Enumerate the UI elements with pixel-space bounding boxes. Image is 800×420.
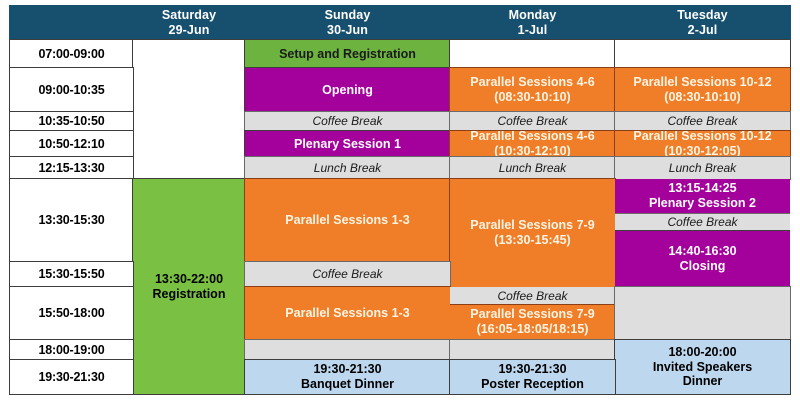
- column-header-tuesday: Tuesday 2-Jul: [614, 5, 791, 41]
- saturday-registration-time: 13:30-22:00: [155, 272, 223, 287]
- time-label-1050-1210: 10:50-12:10: [9, 130, 134, 158]
- tuesday-coffee-break-morning: Coffee Break: [614, 111, 791, 132]
- sunday-date: 30-Jun: [327, 23, 368, 38]
- monday-parallel-4-6-morning: Parallel Sessions 4-6 (08:30-10:10): [449, 67, 616, 113]
- monday-parallel-7-9-late-time: (16:05-18:05/18:15): [477, 322, 589, 337]
- saturday-registration: 13:30-22:00 Registration: [132, 178, 246, 395]
- monday-date: 1-Jul: [518, 23, 548, 38]
- tuesday-parallel-10-12-morning: Parallel Sessions 10-12 (08:30-10:10): [614, 67, 791, 113]
- tuesday-plenary-session-2-label: Plenary Session 2: [649, 196, 756, 211]
- tuesday-early-empty: [614, 39, 791, 69]
- tuesday-invited-dinner-label-1: Invited Speakers: [653, 360, 752, 375]
- monday-parallel-4-6-morning-time: (08:30-10:10): [494, 90, 570, 105]
- tuesday-afternoon-stack: 13:15-14:25 Plenary Session 2 Coffee Bre…: [615, 179, 790, 287]
- tuesday-invited-dinner-time: 18:00-20:00: [668, 345, 736, 360]
- time-label-1800-1900: 18:00-19:00: [9, 339, 134, 361]
- column-header-saturday: Saturday 29-Jun: [132, 5, 246, 41]
- monday-parallel-7-9-afternoon: Parallel Sessions 7-9 (13:30-15:45): [449, 178, 616, 288]
- tuesday-plenary-session-2-time: 13:15-14:25: [668, 181, 736, 196]
- monday-coffee-break-morning: Coffee Break: [449, 111, 616, 132]
- sunday-day: Sunday: [325, 8, 371, 23]
- saturday-date: 29-Jun: [169, 23, 210, 38]
- time-label-1530-1550: 15:30-15:50: [9, 261, 134, 288]
- tuesday-closing: 14:40-16:30 Closing: [615, 230, 790, 287]
- monday-parallel-7-9-late-title: Parallel Sessions 7-9: [470, 307, 594, 322]
- conference-schedule: Saturday 29-Jun Sunday 30-Jun Monday 1-J…: [0, 0, 800, 420]
- tuesday-parallel-10-12-morning-time: (08:30-10:10): [664, 90, 740, 105]
- time-label-0900-1035: 09:00-10:35: [9, 67, 134, 113]
- tuesday-invited-speakers-dinner: 18:00-20:00 Invited Speakers Dinner: [614, 339, 791, 395]
- header-corner: [9, 5, 134, 41]
- monday-poster-label: Poster Reception: [481, 377, 584, 392]
- tuesday-closing-time: 14:40-16:30: [668, 244, 736, 259]
- sunday-coffee-break-afternoon: Coffee Break: [244, 261, 451, 288]
- monday-evening-gap: [449, 339, 616, 361]
- tuesday-parallel-10-12-midmorning-title: Parallel Sessions 10-12: [633, 130, 771, 144]
- saturday-registration-label: Registration: [153, 287, 226, 302]
- schedule-grid: Saturday 29-Jun Sunday 30-Jun Monday 1-J…: [10, 6, 790, 414]
- saturday-morning-empty: [132, 39, 246, 180]
- tuesday-invited-dinner-label-2: Dinner: [683, 374, 723, 389]
- tuesday-date: 2-Jul: [688, 23, 718, 38]
- tuesday-closing-label: Closing: [680, 259, 726, 274]
- sunday-banquet-dinner: 19:30-21:30 Banquet Dinner: [244, 359, 451, 395]
- column-header-sunday: Sunday 30-Jun: [244, 5, 451, 41]
- time-label-1215-1330: 12:15-13:30: [9, 156, 134, 180]
- monday-parallel-7-9-late: Parallel Sessions 7-9 (16:05-18:05/18:15…: [450, 304, 615, 340]
- sunday-parallel-1-3-afternoon: Parallel Sessions 1-3: [244, 178, 451, 263]
- column-header-monday: Monday 1-Jul: [449, 5, 616, 41]
- tuesday-plenary-session-2: 13:15-14:25 Plenary Session 2: [615, 179, 790, 214]
- time-label-0700-0900: 07:00-09:00: [9, 39, 134, 69]
- time-label-1035-1050: 10:35-10:50: [9, 111, 134, 132]
- monday-lunch-break: Lunch Break: [449, 156, 616, 180]
- monday-early-empty: [449, 39, 616, 69]
- monday-parallel-7-9-afternoon-time: (13:30-15:45): [494, 233, 570, 248]
- monday-poster-time: 19:30-21:30: [498, 362, 566, 377]
- tuesday-parallel-10-12-midmorning: Parallel Sessions 10-12 (10:30-12:05): [614, 130, 791, 158]
- tuesday-late-gap: [614, 286, 791, 341]
- time-label-1930-2130: 19:30-21:30: [9, 359, 134, 395]
- saturday-day: Saturday: [162, 8, 216, 23]
- tuesday-coffee-break-afternoon: Coffee Break: [615, 213, 790, 232]
- sunday-evening-gap: [244, 339, 451, 361]
- sunday-coffee-break-morning: Coffee Break: [244, 111, 451, 132]
- tuesday-parallel-10-12-morning-title: Parallel Sessions 10-12: [633, 75, 771, 90]
- sunday-banquet-label: Banquet Dinner: [301, 377, 394, 392]
- monday-parallel-4-6-midmorning-title: Parallel Sessions 4-6: [470, 130, 594, 144]
- time-label-1550-1800: 15:50-18:00: [9, 286, 134, 341]
- monday-day: Monday: [509, 8, 557, 23]
- sunday-banquet-time: 19:30-21:30: [313, 362, 381, 377]
- sunday-plenary-session-1: Plenary Session 1: [244, 130, 451, 158]
- monday-parallel-4-6-morning-title: Parallel Sessions 4-6: [470, 75, 594, 90]
- monday-parallel-4-6-midmorning: Parallel Sessions 4-6 (10:30-12:10): [449, 130, 616, 158]
- monday-coffee-break-afternoon: Coffee Break: [450, 287, 615, 305]
- sunday-opening: Opening: [244, 67, 451, 113]
- monday-poster-reception: 19:30-21:30 Poster Reception: [449, 359, 616, 395]
- sunday-parallel-1-3-late: Parallel Sessions 1-3: [244, 286, 451, 341]
- sunday-lunch-break: Lunch Break: [244, 156, 451, 180]
- time-label-1330-1530: 13:30-15:30: [9, 178, 134, 263]
- monday-parallel-7-9-afternoon-title: Parallel Sessions 7-9: [470, 218, 594, 233]
- monday-late-stack: Coffee Break Parallel Sessions 7-9 (16:0…: [450, 287, 615, 340]
- tuesday-lunch-break: Lunch Break: [614, 156, 791, 180]
- tuesday-day: Tuesday: [677, 8, 728, 23]
- sunday-setup-registration: Setup and Registration: [244, 39, 451, 69]
